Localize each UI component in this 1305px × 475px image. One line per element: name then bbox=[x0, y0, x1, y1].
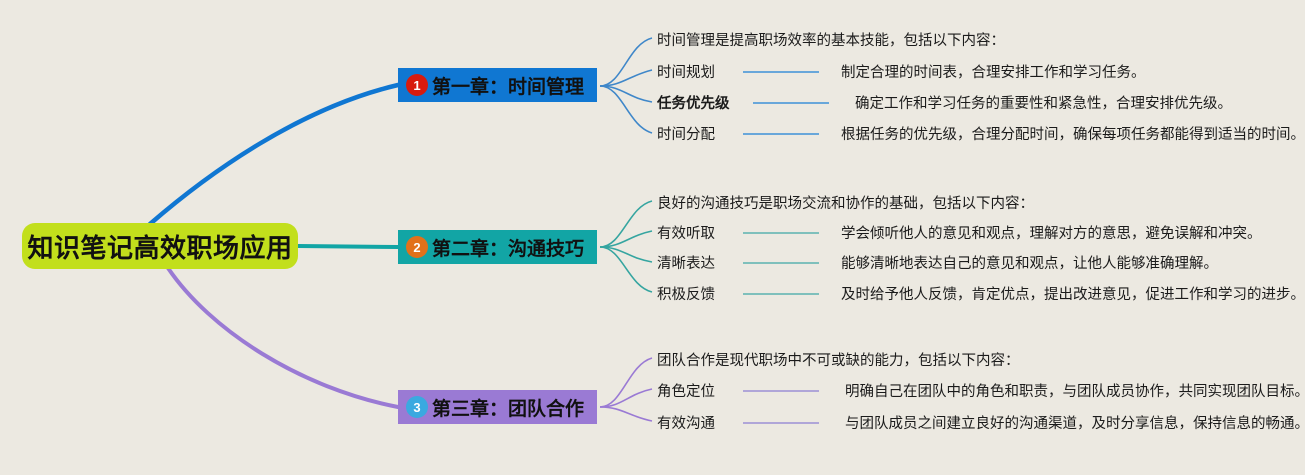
root-to-chapter-2-connector bbox=[298, 246, 398, 247]
root-to-chapter-1-connector bbox=[150, 85, 398, 224]
chapter-1-item-2-term: 任务优先级 bbox=[657, 92, 753, 113]
chapter-1-item-2-dash bbox=[753, 102, 829, 104]
chapter-3-item-2-term: 有效沟通 bbox=[657, 412, 743, 433]
chapter-3-item-2-desc: 与团队成员之间建立良好的沟通渠道，及时分享信息，保持信息的畅通。 bbox=[845, 412, 1305, 433]
chapter-1-branch-lines bbox=[600, 38, 652, 133]
chapter-2-item-row-2[interactable]: 清晰表达 能够清晰地表达自己的意见和观点，让他人能够准确理解。 bbox=[657, 252, 1218, 273]
chapter-1-item-2-desc: 确定工作和学习任务的重要性和紧急性，合理安排优先级。 bbox=[855, 92, 1232, 113]
chapter-1-item-1-desc: 制定合理的时间表，合理安排工作和学习任务。 bbox=[841, 61, 1146, 82]
chapter-2-item-2-desc: 能够清晰地表达自己的意见和观点，让他人能够准确理解。 bbox=[841, 252, 1218, 273]
chapter-3-number-badge: 3 bbox=[406, 396, 428, 418]
chapter-3-label: 第三章：团队合作 bbox=[432, 394, 584, 421]
chapter-2-intro-text: 良好的沟通技巧是职场交流和协作的基础，包括以下内容： bbox=[657, 192, 1034, 213]
chapter-2-item-1-dash bbox=[743, 232, 819, 234]
chapter-2-item-3-dash bbox=[743, 293, 819, 295]
root-to-chapter-3-connector bbox=[168, 268, 398, 407]
chapter-3-item-1-desc: 明确自己在团队中的角色和职责，与团队成员协作，共同实现团队目标。 bbox=[845, 380, 1305, 401]
chapter-2-branch-lines bbox=[600, 201, 652, 292]
chapter-1-item-1-dash bbox=[743, 71, 819, 73]
chapter-2-item-2-term: 清晰表达 bbox=[657, 252, 743, 273]
chapter-1-item-row-1[interactable]: 时间规划 制定合理的时间表，合理安排工作和学习任务。 bbox=[657, 61, 1146, 82]
chapter-2-item-row-1[interactable]: 有效听取 学会倾听他人的意见和观点，理解对方的意思，避免误解和冲突。 bbox=[657, 222, 1262, 243]
chapter-2-item-1-term: 有效听取 bbox=[657, 222, 743, 243]
chapter-3-item-1-term: 角色定位 bbox=[657, 380, 743, 401]
chapter-3-item-2-dash bbox=[743, 422, 819, 424]
mindmap-canvas: 知识笔记高效职场应用 1 第一章：时间管理 2 第二章：沟通技巧 3 第三章：团… bbox=[0, 0, 1305, 475]
chapter-1-item-3-dash bbox=[743, 133, 819, 135]
chapter-node-1[interactable]: 1 第一章：时间管理 bbox=[398, 68, 597, 102]
chapter-2-intro-row: 良好的沟通技巧是职场交流和协作的基础，包括以下内容： bbox=[657, 192, 1034, 213]
chapter-1-item-3-desc: 根据任务的优先级，合理分配时间，确保每项任务都能得到适当的时间。 bbox=[841, 123, 1305, 144]
root-node-label: 知识笔记高效职场应用 bbox=[27, 228, 292, 265]
chapter-2-item-3-term: 积极反馈 bbox=[657, 283, 743, 304]
chapter-2-item-3-desc: 及时给予他人反馈，肯定优点，提出改进意见，促进工作和学习的进步。 bbox=[841, 283, 1305, 304]
root-node[interactable]: 知识笔记高效职场应用 bbox=[22, 223, 298, 269]
chapter-2-item-2-dash bbox=[743, 262, 819, 264]
chapter-node-3[interactable]: 3 第三章：团队合作 bbox=[398, 390, 597, 424]
chapter-3-intro-row: 团队合作是现代职场中不可或缺的能力，包括以下内容： bbox=[657, 349, 1020, 370]
chapter-1-number-badge: 1 bbox=[406, 74, 428, 96]
chapter-2-item-1-desc: 学会倾听他人的意见和观点，理解对方的意思，避免误解和冲突。 bbox=[841, 222, 1262, 243]
chapter-1-item-row-2[interactable]: 任务优先级 确定工作和学习任务的重要性和紧急性，合理安排优先级。 bbox=[657, 92, 1232, 113]
chapter-1-item-3-term: 时间分配 bbox=[657, 123, 743, 144]
chapter-1-item-row-3[interactable]: 时间分配 根据任务的优先级，合理分配时间，确保每项任务都能得到适当的时间。 bbox=[657, 123, 1305, 144]
chapter-1-intro-text: 时间管理是提高职场效率的基本技能，包括以下内容： bbox=[657, 29, 1005, 50]
chapter-3-branch-lines bbox=[600, 358, 652, 421]
chapter-node-2[interactable]: 2 第二章：沟通技巧 bbox=[398, 230, 597, 264]
chapter-1-label: 第一章：时间管理 bbox=[432, 72, 584, 99]
chapter-1-item-1-term: 时间规划 bbox=[657, 61, 743, 82]
chapter-3-intro-text: 团队合作是现代职场中不可或缺的能力，包括以下内容： bbox=[657, 349, 1020, 370]
chapter-3-item-row-2[interactable]: 有效沟通 与团队成员之间建立良好的沟通渠道，及时分享信息，保持信息的畅通。 bbox=[657, 412, 1305, 433]
chapter-3-item-row-1[interactable]: 角色定位 明确自己在团队中的角色和职责，与团队成员协作，共同实现团队目标。 bbox=[657, 380, 1305, 401]
chapter-2-number-badge: 2 bbox=[406, 236, 428, 258]
chapter-2-item-row-3[interactable]: 积极反馈 及时给予他人反馈，肯定优点，提出改进意见，促进工作和学习的进步。 bbox=[657, 283, 1305, 304]
chapter-1-intro-row: 时间管理是提高职场效率的基本技能，包括以下内容： bbox=[657, 29, 1005, 50]
chapter-2-label: 第二章：沟通技巧 bbox=[432, 234, 584, 261]
chapter-3-item-1-dash bbox=[743, 390, 819, 392]
